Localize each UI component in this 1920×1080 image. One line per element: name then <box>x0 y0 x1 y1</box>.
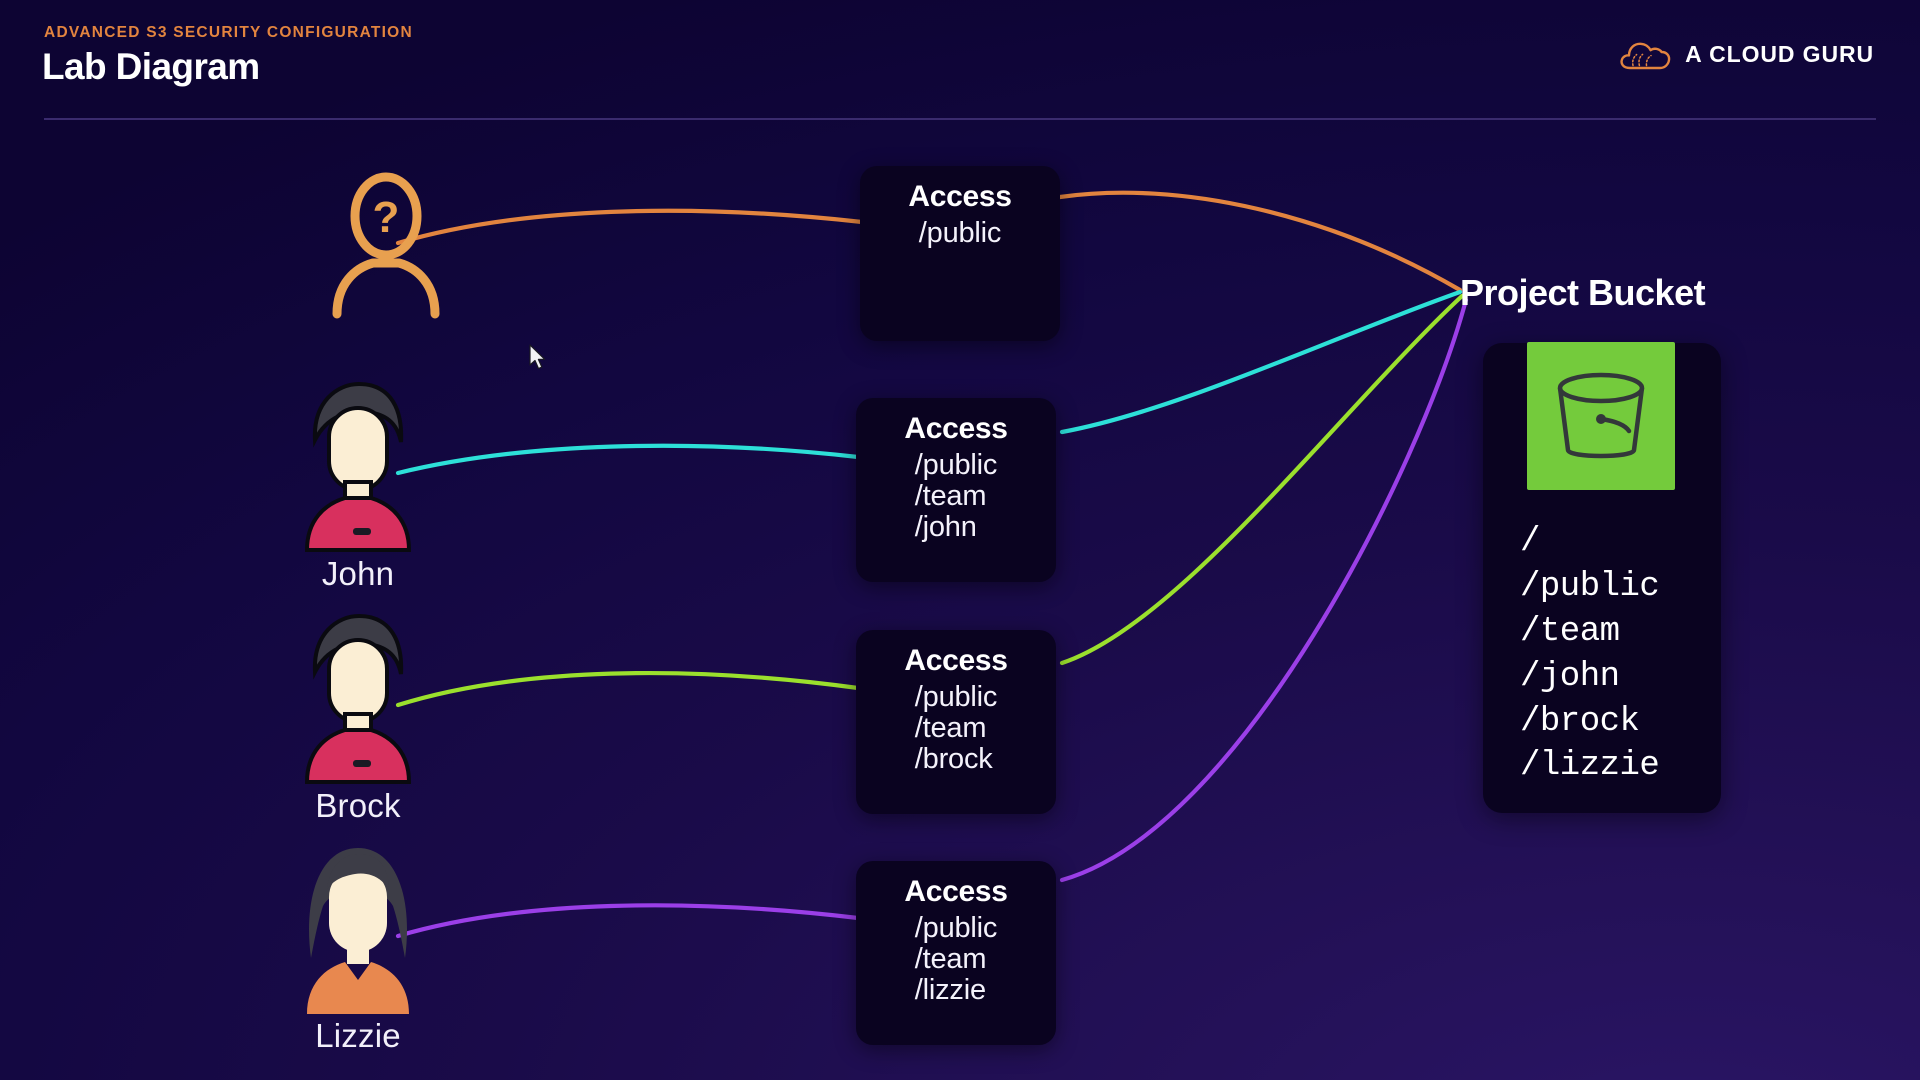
bucket-path: /lizzie <box>1520 744 1659 789</box>
user-avatar-brock <box>293 610 423 785</box>
access-path: /public <box>915 913 997 944</box>
user-avatar-lizzie <box>293 840 423 1015</box>
actor-name-john: John <box>268 555 448 593</box>
actor-lizzie: Lizzie <box>268 840 448 1055</box>
access-box-anonymous: Access /public <box>860 166 1060 341</box>
wire-brock-left <box>398 673 858 705</box>
wire-lizzie-right <box>1062 300 1466 880</box>
actor-john: John <box>268 378 448 593</box>
bucket-path: /john <box>1520 655 1659 700</box>
access-path-list: /public /team /lizzie <box>915 913 997 1006</box>
access-path: /lizzie <box>915 975 997 1006</box>
access-path: /john <box>915 512 997 543</box>
lab-diagram-slide: ADVANCED S3 SECURITY CONFIGURATION Lab D… <box>0 0 1920 1080</box>
bucket-path: /team <box>1520 610 1659 655</box>
access-box-brock: Access /public /team /brock <box>856 630 1056 814</box>
access-path: /team <box>915 713 997 744</box>
bucket-title: Project Bucket <box>1460 272 1705 314</box>
access-path: /public <box>915 682 997 713</box>
anonymous-user-icon: ? <box>321 172 451 320</box>
access-path-list: /public /team /brock <box>915 682 997 775</box>
user-avatar-john <box>293 378 423 553</box>
access-path-list: /public /team /john <box>915 450 997 543</box>
access-box-john: Access /public /team /john <box>856 398 1056 582</box>
access-box-title: Access <box>856 644 1056 678</box>
wire-john-left <box>398 446 858 473</box>
access-path: /public <box>915 450 997 481</box>
wire-anonymous-right <box>1060 193 1460 290</box>
access-path: /team <box>915 481 997 512</box>
s3-bucket-icon <box>1527 342 1675 490</box>
access-path: /brock <box>915 744 997 775</box>
actor-brock: Brock <box>268 610 448 825</box>
wire-john-right <box>1062 292 1460 432</box>
bucket-path: /brock <box>1520 700 1659 745</box>
wire-brock-right <box>1062 296 1462 663</box>
access-path: /team <box>915 944 997 975</box>
access-box-title: Access <box>856 412 1056 446</box>
actor-name-brock: Brock <box>268 787 448 825</box>
bucket-path-list: / /public /team /john /brock /lizzie <box>1520 520 1659 789</box>
actor-anonymous: ? <box>296 172 476 320</box>
actor-name-lizzie: Lizzie <box>268 1017 448 1055</box>
access-path: /public <box>919 218 1001 249</box>
access-path-list: /public <box>919 218 1001 249</box>
access-box-title: Access <box>860 180 1060 214</box>
mouse-pointer-icon <box>528 344 548 372</box>
wire-lizzie-left <box>398 905 858 936</box>
access-box-lizzie: Access /public /team /lizzie <box>856 861 1056 1045</box>
bucket-path: / <box>1520 520 1659 565</box>
svg-text:?: ? <box>373 193 400 242</box>
bucket-path: /public <box>1520 565 1659 610</box>
access-box-title: Access <box>856 875 1056 909</box>
